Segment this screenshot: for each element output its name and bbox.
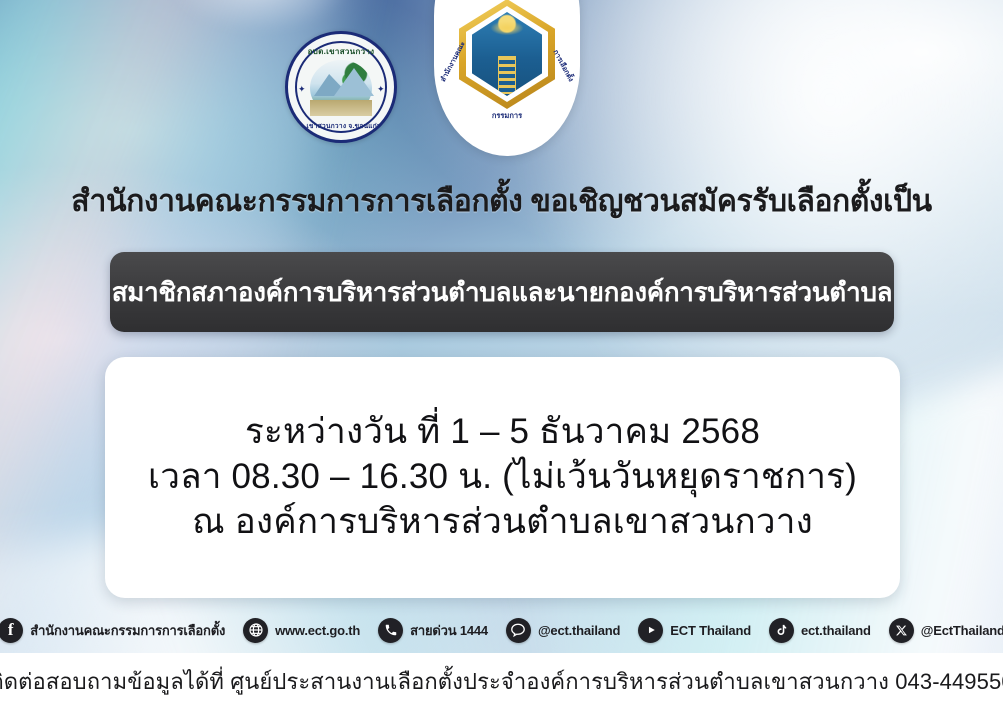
tiktok-icon bbox=[769, 618, 794, 643]
social-item-tiktok[interactable]: ect.thailand bbox=[769, 618, 871, 643]
phone-icon bbox=[378, 618, 403, 643]
poster-headline: สำนักงานคณะกรรมการการเลือกตั้ง ขอเชิญชวน… bbox=[0, 184, 1003, 220]
social-item-youtube[interactable]: ECT Thailand bbox=[638, 618, 751, 643]
social-item-website[interactable]: www.ect.go.th bbox=[243, 618, 360, 643]
social-label-youtube: ECT Thailand bbox=[670, 623, 751, 638]
social-item-x[interactable]: @EctThailand bbox=[889, 618, 1003, 643]
social-item-line[interactable]: @ect.thailand bbox=[506, 618, 620, 643]
x-twitter-icon bbox=[889, 618, 914, 643]
social-item-hotline[interactable]: สายด่วน 1444 bbox=[378, 618, 488, 643]
social-label-hotline: สายด่วน 1444 bbox=[410, 620, 488, 641]
social-label-facebook: สำนักงานคณะกรรมการการเลือกตั้ง bbox=[30, 620, 225, 641]
social-label-tiktok: ect.thailand bbox=[801, 623, 871, 638]
seal-ornament-right-icon: ✦ bbox=[377, 86, 384, 93]
social-label-x: @EctThailand bbox=[921, 623, 1003, 638]
social-item-facebook[interactable]: f สำนักงานคณะกรรมการการเลือกตั้ง bbox=[0, 618, 225, 643]
youtube-icon bbox=[638, 618, 663, 643]
social-contact-bar: f สำนักงานคณะกรรมการการเลือกตั้ง www.ect… bbox=[0, 608, 1003, 652]
subdistrict-seal-logo: อบต.เขาสวนกวาง อ.เขาสวนกวาง จ.ขอนแก่น ✦ … bbox=[285, 31, 397, 143]
event-details-card: ระหว่างวัน ที่ 1 – 5 ธันวาคม 2568 เวลา 0… bbox=[105, 357, 900, 598]
seal-ornament-left-icon: ✦ bbox=[298, 86, 305, 93]
poster-page: อบต.เขาสวนกวาง อ.เขาสวนกวาง จ.ขอนแก่น ✦ … bbox=[0, 0, 1003, 709]
poster-subtitle-text: สมาชิกสภาองค์การบริหารส่วนตำบลและนายกองค… bbox=[112, 272, 893, 313]
social-label-line: @ect.thailand bbox=[538, 623, 620, 638]
event-time-line: เวลา 08.30 – 16.30 น. (ไม่เว้นวันหยุดราช… bbox=[148, 456, 857, 499]
seal-bottom-text: อ.เขาสวนกวาง จ.ขอนแก่น bbox=[288, 121, 394, 131]
contact-caption: ติดต่อสอบถามข้อมูลได้ที่ ศูนย์ประสานงานเ… bbox=[0, 653, 1003, 709]
social-label-website: www.ect.go.th bbox=[275, 623, 360, 638]
event-date-line: ระหว่างวัน ที่ 1 – 5 ธันวาคม 2568 bbox=[245, 411, 760, 454]
seal-top-text: อบต.เขาสวนกวาง bbox=[288, 45, 394, 58]
emblem-pedestal bbox=[498, 56, 516, 94]
poster-subtitle-banner: สมาชิกสภาองค์การบริหารส่วนตำบลและนายกองค… bbox=[110, 252, 894, 332]
emblem-ring-text-bottom: กรรมการ bbox=[434, 110, 580, 122]
ect-diamond-emblem-icon bbox=[459, 0, 555, 109]
line-icon bbox=[506, 618, 531, 643]
event-venue-line: ณ องค์การบริหารส่วนตำบลเขาสวนกวาง bbox=[192, 501, 813, 544]
poster-artwork: อบต.เขาสวนกวาง อ.เขาสวนกวาง จ.ขอนแก่น ✦ … bbox=[0, 0, 1003, 653]
globe-icon bbox=[243, 618, 268, 643]
facebook-icon: f bbox=[0, 618, 23, 643]
